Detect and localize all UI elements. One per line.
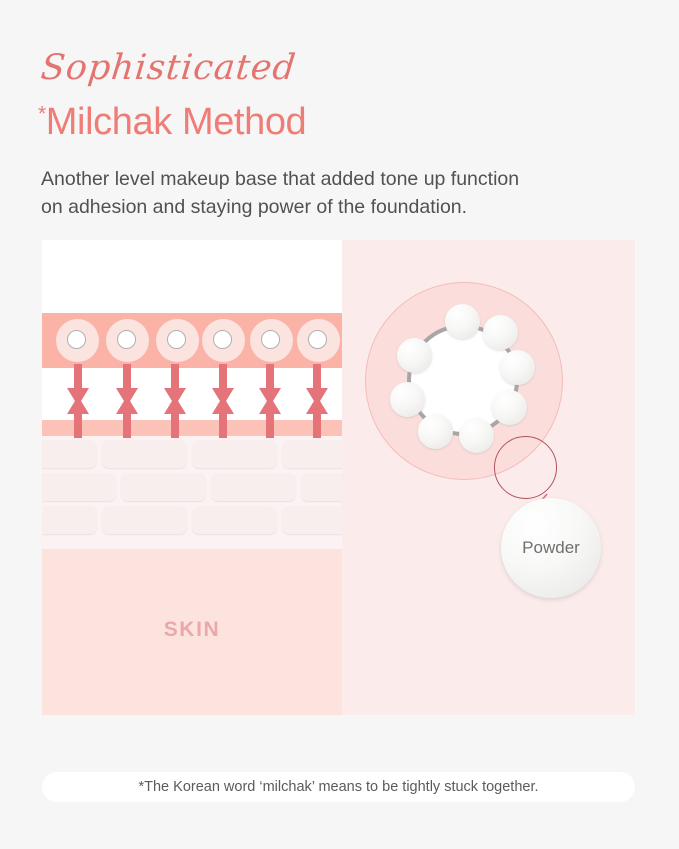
powder-bead [459,418,494,453]
pore-icon [202,319,245,362]
brick [42,473,116,501]
brick [42,506,97,534]
arrow-up-icon [162,396,188,440]
pore-icon [250,319,293,362]
footnote-text: *The Korean word ‘milchak’ means to be t… [138,779,538,795]
script-title: Sophisticated [39,48,298,88]
pore-icon [297,319,340,362]
subtitle-line-1: Another level makeup base that added ton… [41,165,601,193]
powder-label: Powder [522,538,580,558]
brick [42,440,97,468]
pore-icon [156,319,199,362]
subtitle-line-2: on adhesion and staying power of the fou… [41,193,601,221]
pore-icon [56,319,99,362]
pore-icon [106,319,149,362]
brick [192,440,277,468]
brick [282,506,342,534]
powder-particle-panel: Powder [342,240,635,715]
title-asterisk: * [38,102,46,125]
layer-top-white [42,240,342,313]
arrow-up-icon [114,396,140,440]
title-text: Milchak Method [46,101,307,143]
arrow-up-icon [304,396,330,440]
skin-label: SKIN [42,618,342,642]
skin-cross-section-panel: SKIN [42,240,342,715]
powder-bead [492,390,527,425]
brick [301,473,342,501]
powder-bead [445,304,480,339]
brick [102,440,187,468]
powder-bead [390,382,425,417]
page-root: Sophisticated *Milchak Method Another le… [0,0,679,849]
arrow-up-icon [257,396,283,440]
brick [121,473,206,501]
powder-ball: Powder [501,498,601,598]
highlight-callout-circle [494,436,557,499]
arrow-up-icon [210,396,236,440]
subtitle: Another level makeup base that added ton… [41,165,601,221]
footnote-banner: *The Korean word ‘milchak’ means to be t… [42,772,635,802]
brick [211,473,296,501]
powder-bead [397,338,432,373]
powder-bead [483,315,518,350]
brick [102,506,187,534]
powder-bead [418,414,453,449]
powder-bead [500,350,535,385]
brick [192,506,277,534]
diagram: SKIN [42,240,635,715]
arrow-up-icon [65,396,91,440]
brick [282,440,342,468]
page-title: *Milchak Method [38,101,306,144]
